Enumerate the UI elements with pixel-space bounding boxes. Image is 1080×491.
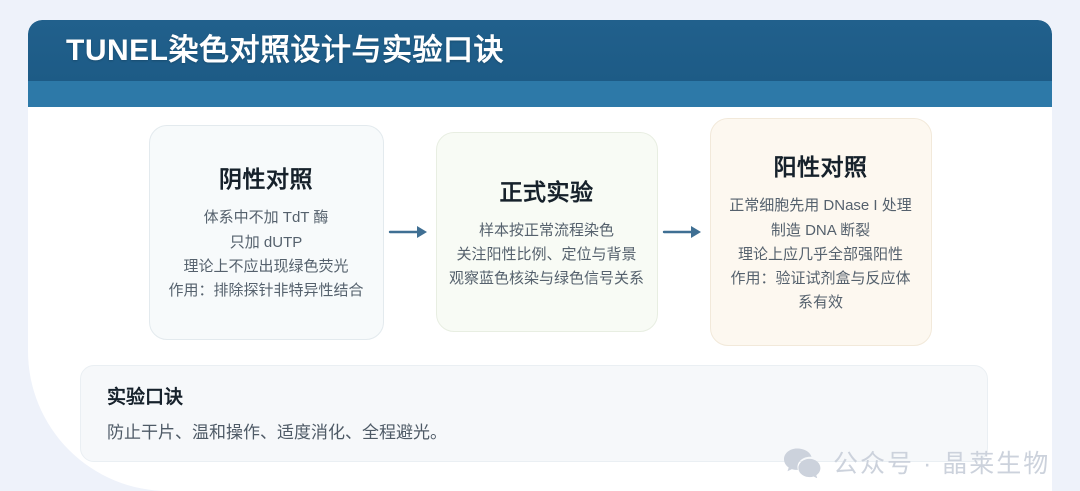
- card-line: 作用：排除探针非特异性结合: [168, 279, 363, 303]
- page-sheet: TUNEL染色对照设计与实验口诀 阴性对照 体系中不加 TdT 酶 只加 dUT…: [28, 20, 1052, 491]
- card-line: 作用：验证试剂盒与反应体系有效: [725, 267, 917, 316]
- card-line: 关注阳性比例、定位与背景: [456, 243, 636, 267]
- card-line: 正常细胞先用 DNase I 处理: [729, 194, 912, 218]
- card-line: 观察蓝色核染与绿色信号关系: [449, 267, 644, 291]
- page-title: TUNEL染色对照设计与实验口诀: [66, 20, 504, 81]
- card-title: 阳性对照: [774, 148, 868, 182]
- flow-row: 阴性对照 体系中不加 TdT 酶 只加 dUTP 理论上不应出现绿色荧光 作用：…: [28, 107, 1052, 357]
- arrow-right-icon-2: [658, 223, 710, 241]
- header-band-bottom: [28, 81, 1052, 107]
- card-line: 样本按正常流程染色: [479, 219, 614, 243]
- note-text: 防止干片、温和操作、适度消化、全程避光。: [107, 418, 961, 443]
- arrow-right-icon-1: [384, 223, 436, 241]
- card-line: 理论上应几乎全部强阳性: [738, 243, 903, 267]
- header-banner: TUNEL染色对照设计与实验口诀: [28, 20, 1052, 107]
- card-line: 只加 dUTP: [230, 231, 303, 255]
- card-negative-control: 阴性对照 体系中不加 TdT 酶 只加 dUTP 理论上不应出现绿色荧光 作用：…: [149, 125, 384, 340]
- card-line: 制造 DNA 断裂: [771, 219, 870, 243]
- card-title: 正式实验: [500, 173, 594, 207]
- experiment-mnemonic-box: 实验口诀 防止干片、温和操作、适度消化、全程避光。: [80, 365, 988, 462]
- card-line: 理论上不应出现绿色荧光: [183, 255, 348, 279]
- card-positive-control: 阳性对照 正常细胞先用 DNase I 处理 制造 DNA 断裂 理论上应几乎全…: [710, 118, 932, 346]
- card-formal-experiment: 正式实验 样本按正常流程染色 关注阳性比例、定位与背景 观察蓝色核染与绿色信号关…: [436, 132, 658, 332]
- note-title: 实验口诀: [107, 382, 961, 409]
- card-title: 阴性对照: [219, 160, 313, 194]
- card-line: 体系中不加 TdT 酶: [204, 206, 329, 230]
